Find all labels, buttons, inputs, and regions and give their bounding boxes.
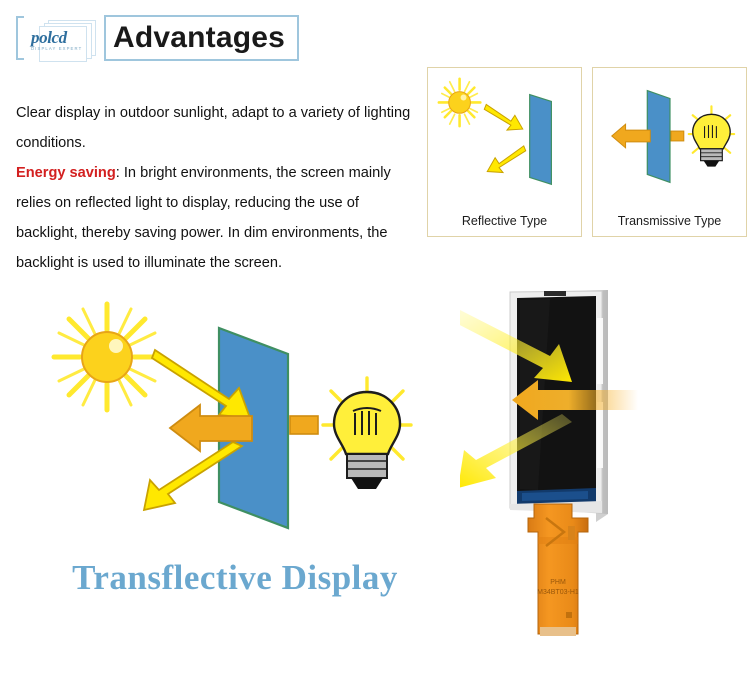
diagram-card-reflective: Reflective Type xyxy=(427,67,582,237)
copy-paragraph-2: Energy saving: In bright environments, t… xyxy=(16,158,416,278)
light-bulb-icon xyxy=(323,378,411,489)
advantages-copy: Clear display in outdoor sunlight, adapt… xyxy=(16,98,416,278)
backlight-arrow xyxy=(290,416,318,434)
fpc-label-line1: PHM xyxy=(550,579,566,586)
transflective-diagram xyxy=(20,282,460,572)
card-label-transmissive: Transmissive Type xyxy=(593,214,746,228)
backlight-arrow xyxy=(671,131,684,141)
light-bulb-icon xyxy=(689,106,734,166)
lcd-panel-shape xyxy=(530,95,552,185)
brand-logo: polcd DISPLAY EXPERT xyxy=(28,20,100,60)
sun-icon xyxy=(54,304,160,410)
transflective-display-title: Transflective Display xyxy=(20,558,450,598)
logo-wordmark: polcd xyxy=(28,28,100,48)
incoming-light-arrow xyxy=(484,104,522,130)
transmissive-diagram xyxy=(593,68,746,204)
fpc-label-line2: M34BT03-H1 xyxy=(537,589,579,596)
diagram-card-transmissive: Transmissive Type xyxy=(592,67,747,237)
reflective-diagram xyxy=(428,68,581,204)
card-label-reflective: Reflective Type xyxy=(428,214,581,228)
copy-paragraph-1: Clear display in outdoor sunlight, adapt… xyxy=(16,98,416,158)
lcd-module-photo: PHM M34BT03-H1 xyxy=(460,282,750,682)
sun-icon xyxy=(439,79,480,126)
copy-emphasis: Energy saving xyxy=(16,165,116,181)
page-title: Advantages xyxy=(113,17,293,59)
emitted-light-arrow xyxy=(612,124,650,148)
reflected-light-arrow xyxy=(487,146,525,173)
fpc-flex-cable: PHM M34BT03-H1 xyxy=(528,504,588,636)
